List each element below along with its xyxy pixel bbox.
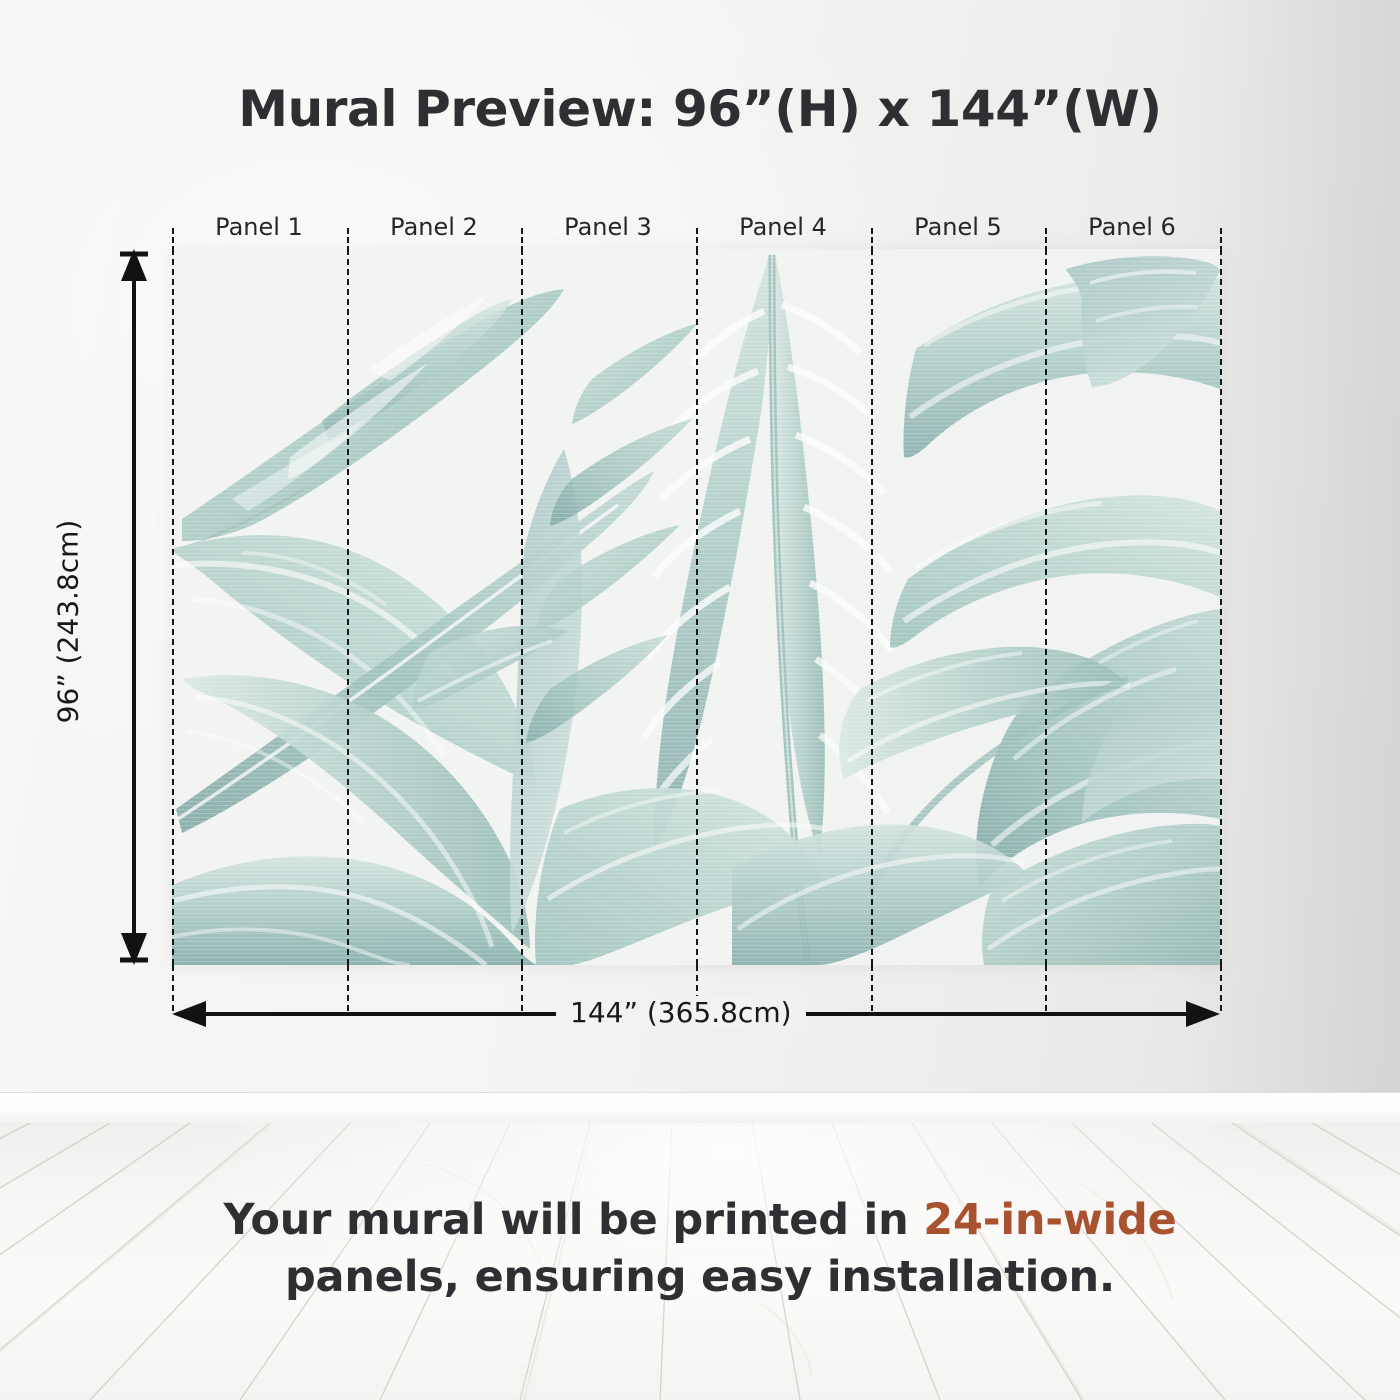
height-dimension-arrow	[108, 249, 160, 965]
panel-label-6: Panel 6	[1045, 213, 1219, 241]
caption-line-2: panels, ensuring easy installation.	[0, 1249, 1400, 1306]
panel-divider-stub-6	[1220, 228, 1222, 252]
height-dimension-label: 96” (243.8cm)	[52, 492, 85, 752]
page-title: Mural Preview: 96”(H) x 144”(W)	[0, 80, 1400, 138]
panel-divider-5	[1045, 249, 1047, 965]
baseboard	[0, 1092, 1400, 1123]
footer-caption: Your mural will be printed in 24-in-wide…	[0, 1192, 1400, 1306]
panel-divider-bottom-6	[1220, 965, 1222, 1011]
panel-label-3: Panel 3	[521, 213, 695, 241]
panel-divider-2	[521, 249, 523, 965]
panel-label-2: Panel 2	[347, 213, 521, 241]
panel-label-5: Panel 5	[871, 213, 1045, 241]
caption-highlight: 24-in-wide	[923, 1195, 1176, 1245]
panel-divider-1	[347, 249, 349, 965]
panel-divider-0	[172, 249, 174, 965]
panel-divider-3	[696, 249, 698, 965]
panel-label-1: Panel 1	[172, 213, 346, 241]
panel-divider-4	[871, 249, 873, 965]
panel-label-4: Panel 4	[696, 213, 870, 241]
caption-line-1: Your mural will be printed in 24-in-wide	[0, 1192, 1400, 1249]
panel-divider-6	[1220, 249, 1222, 965]
room-scene: Mural Preview: 96”(H) x 144”(W)	[0, 0, 1400, 1400]
caption-text-before: Your mural will be printed in	[223, 1195, 923, 1245]
width-dimension-label: 144” (365.8cm)	[556, 996, 806, 1029]
